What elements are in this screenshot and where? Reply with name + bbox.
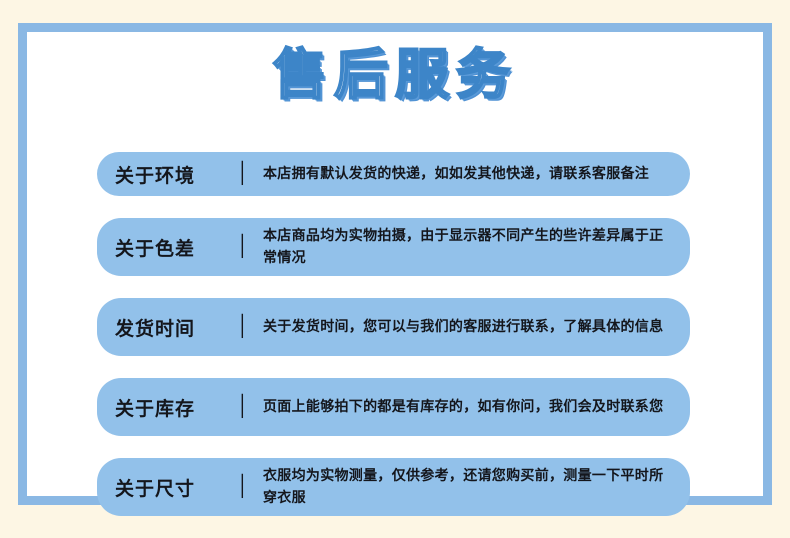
label-separator: │ bbox=[237, 316, 259, 336]
service-item-shipping-time: 发货时间 │ 关于发货时间，您可以与我们的客服进行联系，了解具体的信息 bbox=[97, 298, 690, 356]
service-item-label: 发货时间 bbox=[111, 314, 237, 341]
label-separator: │ bbox=[237, 476, 259, 496]
service-item-description: 衣服均为实物测量，仅供参考，还请您购买前，测量一下平时所穿衣服 bbox=[259, 465, 676, 509]
after-sales-service-page: 售后服务 关于环境 │ 本店拥有默认发货的快递，如如发其他快递，请联系客服备注 … bbox=[0, 0, 790, 528]
service-item-list: 关于环境 │ 本店拥有默认发货的快递，如如发其他快递，请联系客服备注 关于色差 … bbox=[97, 152, 690, 538]
service-item-stock: 关于库存 │ 页面上能够拍下的都是有库存的，如有你问，我们会及时联系您 bbox=[97, 378, 690, 436]
service-item-label: 关于库存 bbox=[111, 394, 237, 421]
service-item-description: 关于发货时间，您可以与我们的客服进行联系，了解具体的信息 bbox=[259, 316, 676, 338]
service-item-label: 关于色差 bbox=[111, 234, 237, 261]
service-item-description: 本店拥有默认发货的快递，如如发其他快递，请联系客服备注 bbox=[259, 163, 676, 185]
service-item-description: 本店商品均为实物拍摄，由于显示器不同产生的些许差异属于正常情况 bbox=[259, 225, 676, 269]
service-item-environment: 关于环境 │ 本店拥有默认发货的快递，如如发其他快递，请联系客服备注 bbox=[97, 152, 690, 196]
label-separator: │ bbox=[237, 163, 259, 183]
service-item-description: 页面上能够拍下的都是有库存的，如有你问，我们会及时联系您 bbox=[259, 396, 676, 418]
service-item-label: 关于尺寸 bbox=[111, 474, 237, 501]
service-item-size: 关于尺寸 │ 衣服均为实物测量，仅供参考，还请您购买前，测量一下平时所穿衣服 bbox=[97, 458, 690, 516]
label-separator: │ bbox=[237, 396, 259, 416]
service-item-color-difference: 关于色差 │ 本店商品均为实物拍摄，由于显示器不同产生的些许差异属于正常情况 bbox=[97, 218, 690, 276]
service-item-label: 关于环境 bbox=[111, 161, 237, 188]
label-separator: │ bbox=[237, 236, 259, 256]
